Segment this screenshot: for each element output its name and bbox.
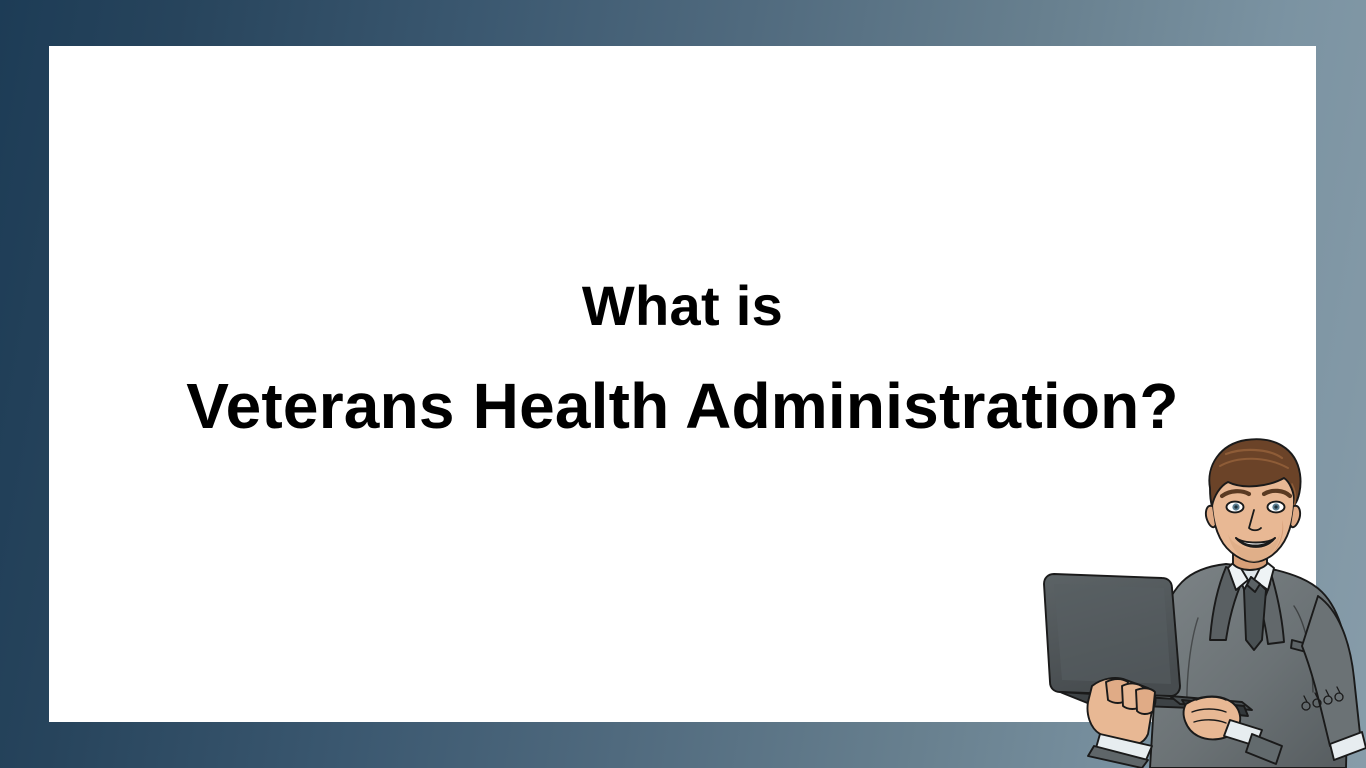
page-title: What is Veterans Health Administration? <box>49 278 1316 438</box>
slide-canvas: What is Veterans Health Administration? <box>0 0 1366 768</box>
title-line-2: Veterans Health Administration? <box>49 374 1316 438</box>
title-line-1: What is <box>49 278 1316 334</box>
content-card: What is Veterans Health Administration? <box>49 46 1316 722</box>
